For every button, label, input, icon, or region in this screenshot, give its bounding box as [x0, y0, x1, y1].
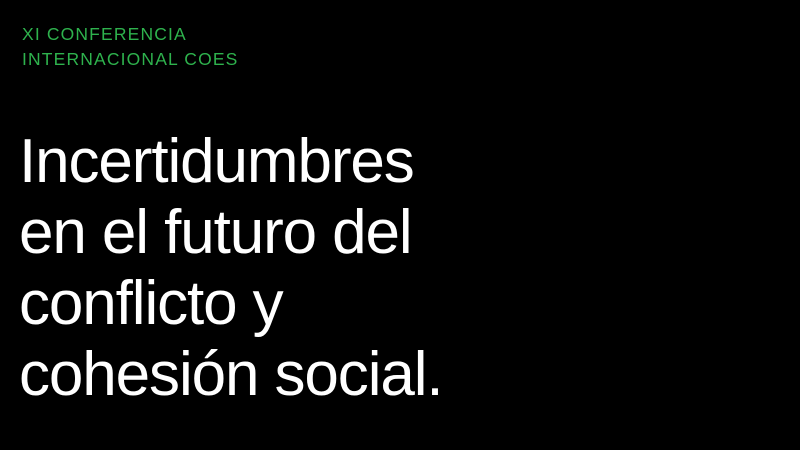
headline-line-4: cohesión social. [19, 339, 619, 410]
poster-text-layer: XI CONFERENCIA INTERNACIONAL COES Incert… [0, 0, 800, 450]
eyebrow-line-2: INTERNACIONAL COES [22, 47, 238, 72]
eyebrow-line-1: XI CONFERENCIA [22, 22, 238, 47]
conference-poster: XI CONFERENCIA INTERNACIONAL COES Incert… [0, 0, 800, 450]
headline-line-1: Incertidumbres [19, 126, 619, 197]
page-title: Incertidumbres en el futuro del conflict… [19, 126, 619, 410]
headline-line-3: conflicto y [19, 268, 619, 339]
conference-eyebrow: XI CONFERENCIA INTERNACIONAL COES [22, 22, 238, 72]
headline-line-2: en el futuro del [19, 197, 619, 268]
